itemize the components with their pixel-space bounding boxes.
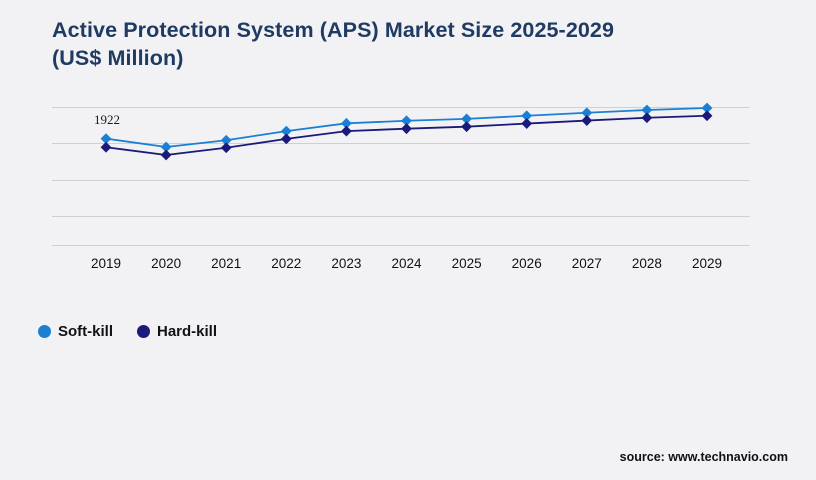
legend-item-hard-kill[interactable]: Hard-kill <box>137 323 217 340</box>
x-tick-label-2022: 2022 <box>271 256 301 271</box>
series-layer <box>52 100 750 248</box>
data-point-marker[interactable] <box>341 126 352 137</box>
source-note: source: www.technavio.com <box>620 450 788 464</box>
legend-swatch-icon <box>38 325 51 338</box>
chart-legend: Soft-killHard-kill <box>38 323 217 340</box>
x-tick-label-2020: 2020 <box>151 256 181 271</box>
chart-title-line2: (US$ Million) <box>52 46 184 70</box>
x-tick-label-2025: 2025 <box>452 256 482 271</box>
x-tick-label-2024: 2024 <box>391 256 421 271</box>
data-point-marker[interactable] <box>161 150 172 161</box>
legend-label: Hard-kill <box>157 323 217 340</box>
legend-item-soft-kill[interactable]: Soft-kill <box>38 323 113 340</box>
data-point-marker[interactable] <box>221 142 232 153</box>
data-point-marker[interactable] <box>642 112 653 123</box>
data-point-marker[interactable] <box>281 133 292 144</box>
data-point-marker[interactable] <box>521 118 532 129</box>
legend-label: Soft-kill <box>58 323 113 340</box>
data-point-marker[interactable] <box>581 115 592 126</box>
data-point-marker[interactable] <box>461 121 472 132</box>
x-axis: 2019202020212022202320242025202620272028… <box>52 248 750 278</box>
x-tick-label-2029: 2029 <box>692 256 722 271</box>
x-tick-label-2023: 2023 <box>331 256 361 271</box>
x-tick-label-2028: 2028 <box>632 256 662 271</box>
x-tick-label-2021: 2021 <box>211 256 241 271</box>
legend-swatch-icon <box>137 325 150 338</box>
data-point-marker[interactable] <box>702 110 713 121</box>
chart-title: Active Protection System (APS) Market Si… <box>52 16 752 72</box>
data-point-label: 1922 <box>94 112 120 128</box>
data-point-marker[interactable] <box>101 142 112 153</box>
data-point-marker[interactable] <box>401 123 412 134</box>
x-tick-label-2027: 2027 <box>572 256 602 271</box>
plot-area: 1922 <box>52 100 750 248</box>
chart-container: Active Protection System (APS) Market Si… <box>0 0 816 480</box>
x-tick-label-2019: 2019 <box>91 256 121 271</box>
chart-title-line1: Active Protection System (APS) Market Si… <box>52 18 614 42</box>
x-tick-label-2026: 2026 <box>512 256 542 271</box>
